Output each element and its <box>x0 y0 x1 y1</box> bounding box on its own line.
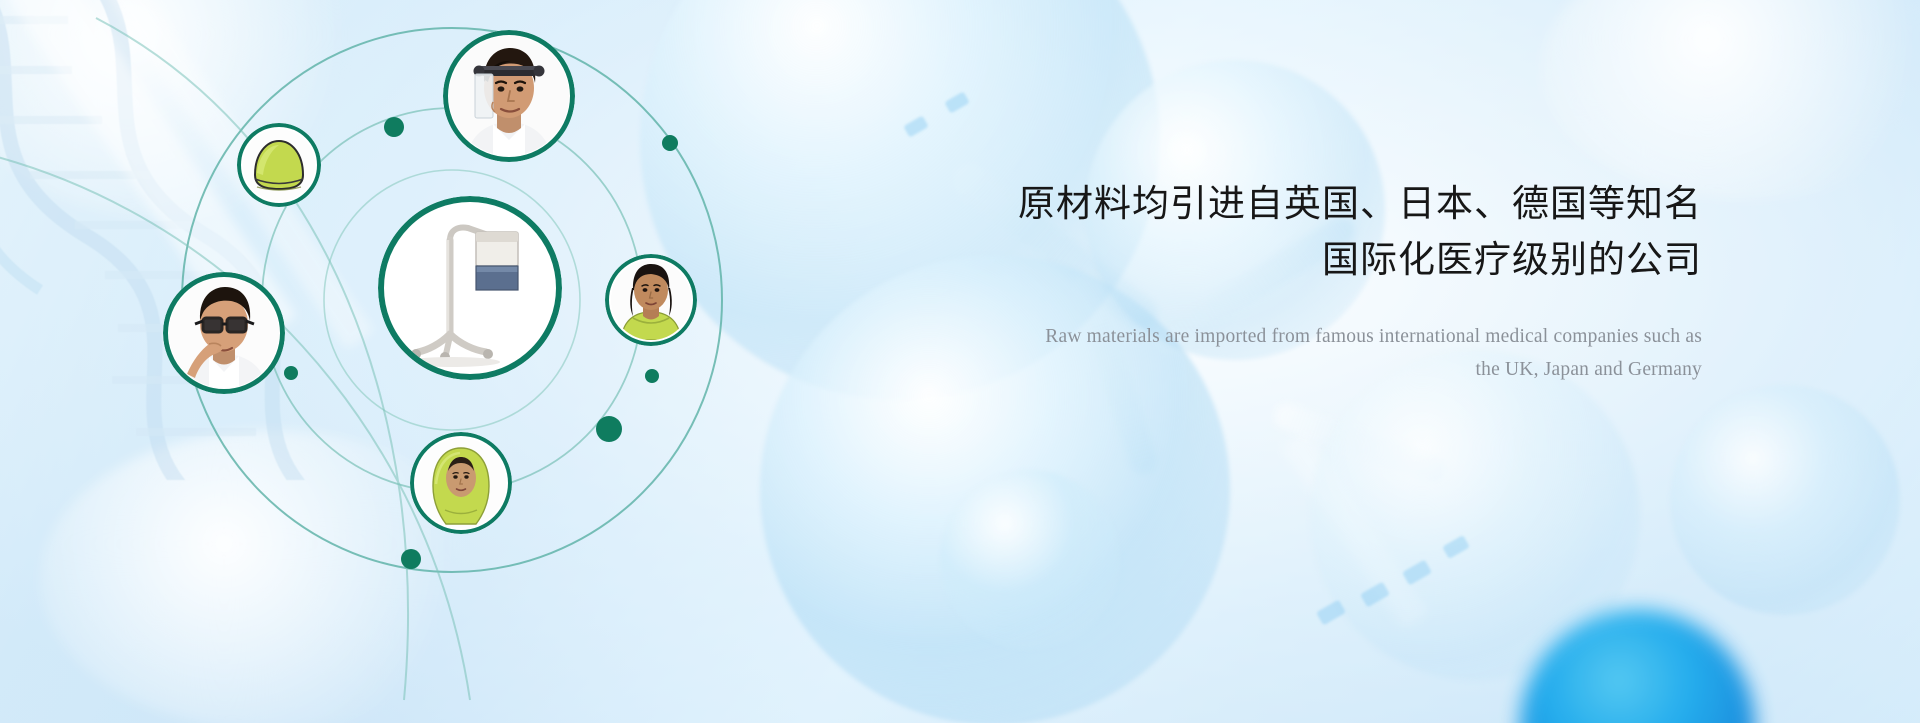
banner-headline: 原材料均引进自英国、日本、德国等知名 国际化医疗级别的公司 <box>872 176 1702 288</box>
blue-accent-sphere <box>1520 610 1755 723</box>
subtitle-line-2: the UK, Japan and Germany <box>872 353 1702 386</box>
molecule-sphere-5 <box>1310 350 1640 680</box>
light-shard-3 <box>1281 430 1429 629</box>
accent-tick-5 <box>903 115 929 137</box>
accent-tick-6 <box>944 91 970 113</box>
subtitle-line-1: Raw materials are imported from famous i… <box>872 320 1702 353</box>
banner-subtitle: Raw materials are imported from famous i… <box>872 320 1702 386</box>
cloud-glow-top-right <box>1540 0 1920 200</box>
accent-tick-3 <box>1402 560 1432 586</box>
banner-text-block: 原材料均引进自英国、日本、德国等知名 国际化医疗级别的公司 Raw materi… <box>872 176 1702 386</box>
accent-tick-4 <box>1442 535 1470 559</box>
molecule-sphere-6 <box>1670 385 1900 615</box>
headline-line-2: 国际化医疗级别的公司 <box>872 232 1702 288</box>
hero-banner: 原材料均引进自英国、日本、德国等知名 国际化医疗级别的公司 Raw materi… <box>0 0 1920 723</box>
orbit-rings <box>0 0 900 723</box>
accent-tick-2 <box>1360 582 1390 608</box>
headline-line-1: 原材料均引进自英国、日本、德国等知名 <box>1018 182 1702 225</box>
molecule-sphere-4 <box>940 470 1120 650</box>
molecule-bond-4 <box>1271 400 1449 486</box>
accent-tick-1 <box>1316 600 1346 626</box>
